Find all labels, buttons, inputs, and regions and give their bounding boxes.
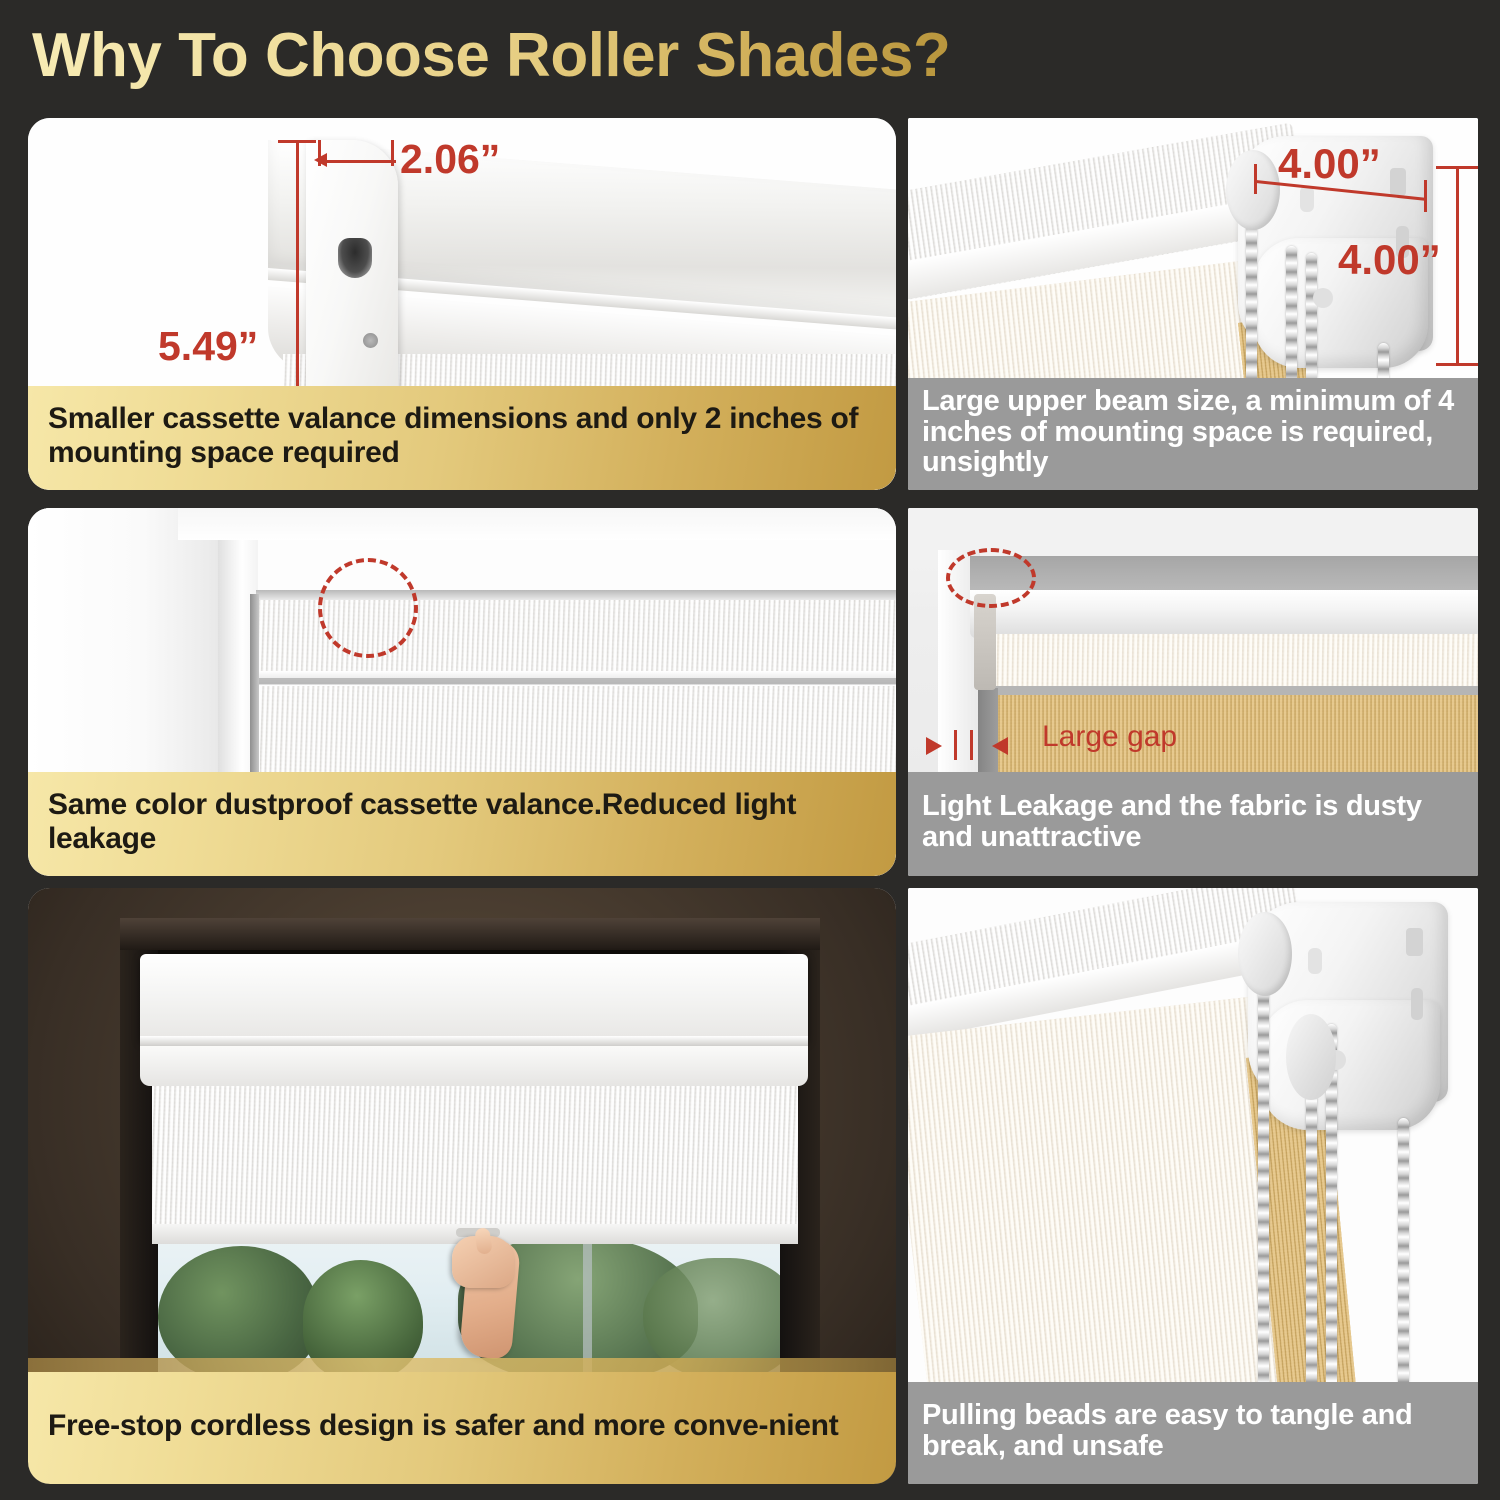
floor-light-strip <box>28 1358 896 1372</box>
window-head <box>120 918 820 950</box>
caption-row1-bad: Large upper beam size, a minimum of 4 in… <box>908 378 1478 490</box>
dim-height-tick-top <box>278 140 316 143</box>
end-hardware <box>974 594 996 690</box>
page-title: Why To Choose Roller Shades? <box>32 20 950 91</box>
gap-tick-left <box>954 730 957 760</box>
infographic-root: Why To Choose Roller Shades? <box>0 0 1500 1500</box>
highlight-circle-icon <box>318 558 418 658</box>
clutch-wheel <box>1226 150 1280 230</box>
bracket-slot-2 <box>1411 988 1423 1020</box>
clutch-wheel-lower <box>1286 1014 1336 1100</box>
fabric-cream-band <box>980 634 1478 688</box>
screw-icon <box>363 333 378 348</box>
clutch-wheel-upper <box>1238 912 1292 996</box>
bracket-emboss-2 <box>1313 288 1333 308</box>
dim-width-label: 4.00” <box>1278 140 1381 188</box>
dim-width-label: 2.06” <box>400 136 500 183</box>
cassette-divider-shadow <box>256 678 896 684</box>
bracket-emboss-1 <box>1300 186 1314 212</box>
caption-row2-bad: Light Leakage and the fabric is dusty an… <box>908 772 1478 876</box>
panel-row3-good: Free-stop cordless design is safer and m… <box>28 888 896 1484</box>
caption-row1-good: Smaller cassette valance dimensions and … <box>28 386 896 490</box>
dim-height-label: 4.00” <box>1338 236 1441 284</box>
dim-height-line <box>1456 166 1459 366</box>
panel-row3-bad: Pulling beads are easy to tangle and bre… <box>908 888 1478 1484</box>
fabric-edge-shadow <box>980 686 1478 695</box>
panel-row2-good: smaller gap Same color dustproof cassett… <box>28 508 896 876</box>
highlight-circle-icon <box>946 548 1036 608</box>
dim-width-line <box>318 160 396 163</box>
caption-row3-good: Free-stop cordless design is safer and m… <box>28 1372 896 1484</box>
caption-row3-bad: Pulling beads are easy to tangle and bre… <box>908 1382 1478 1484</box>
dim-width-tick-right <box>1424 180 1427 212</box>
window-casing-top <box>178 508 896 540</box>
panel-row1-good: 2.06” 5.49” Smaller cassette valance dim… <box>28 118 896 490</box>
bracket-slot-1 <box>1390 168 1406 196</box>
gap-tick-right <box>970 730 973 760</box>
bracket-slot-1 <box>1406 928 1423 956</box>
dim-height-tick-bottom <box>1436 363 1478 366</box>
roller-tube <box>970 590 1478 638</box>
valance-divider <box>140 1036 808 1046</box>
dim-height-label: 5.49” <box>158 323 258 370</box>
dim-width-tick-left <box>1254 164 1257 194</box>
valance-lower-bar <box>140 1044 808 1086</box>
cassette-valance <box>140 954 808 1040</box>
dim-height-tick-top <box>1436 166 1478 169</box>
caption-row2-good: Same color dustproof cassette valance.Re… <box>28 772 896 876</box>
gap-callout-label: Large gap <box>1042 720 1177 754</box>
panel-row2-bad: Large gap Light Leakage and the fabric i… <box>908 508 1478 876</box>
shade-fabric <box>152 1084 798 1232</box>
bracket-emboss-1 <box>1308 948 1322 974</box>
clutch-opening <box>338 238 372 278</box>
window-casing-left <box>28 508 238 808</box>
panel-row1-bad: 4.00” 4.00” Large upper beam size, a min… <box>908 118 1478 490</box>
dim-width-arrow-left <box>314 153 327 167</box>
